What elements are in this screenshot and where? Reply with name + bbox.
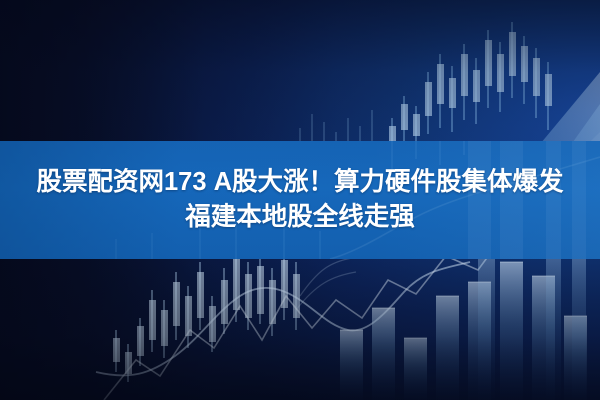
headline-line-2: 福建本地股全线走强 xyxy=(185,203,415,233)
headline-line-1: 股票配资网173 A股大涨！算力硬件股集体爆发 xyxy=(36,168,563,198)
banner-image: 股票配资网173 A股大涨！算力硬件股集体爆发 福建本地股全线走强 xyxy=(0,0,600,400)
headline-text-block: 股票配资网173 A股大涨！算力硬件股集体爆发 福建本地股全线走强 xyxy=(0,141,600,259)
